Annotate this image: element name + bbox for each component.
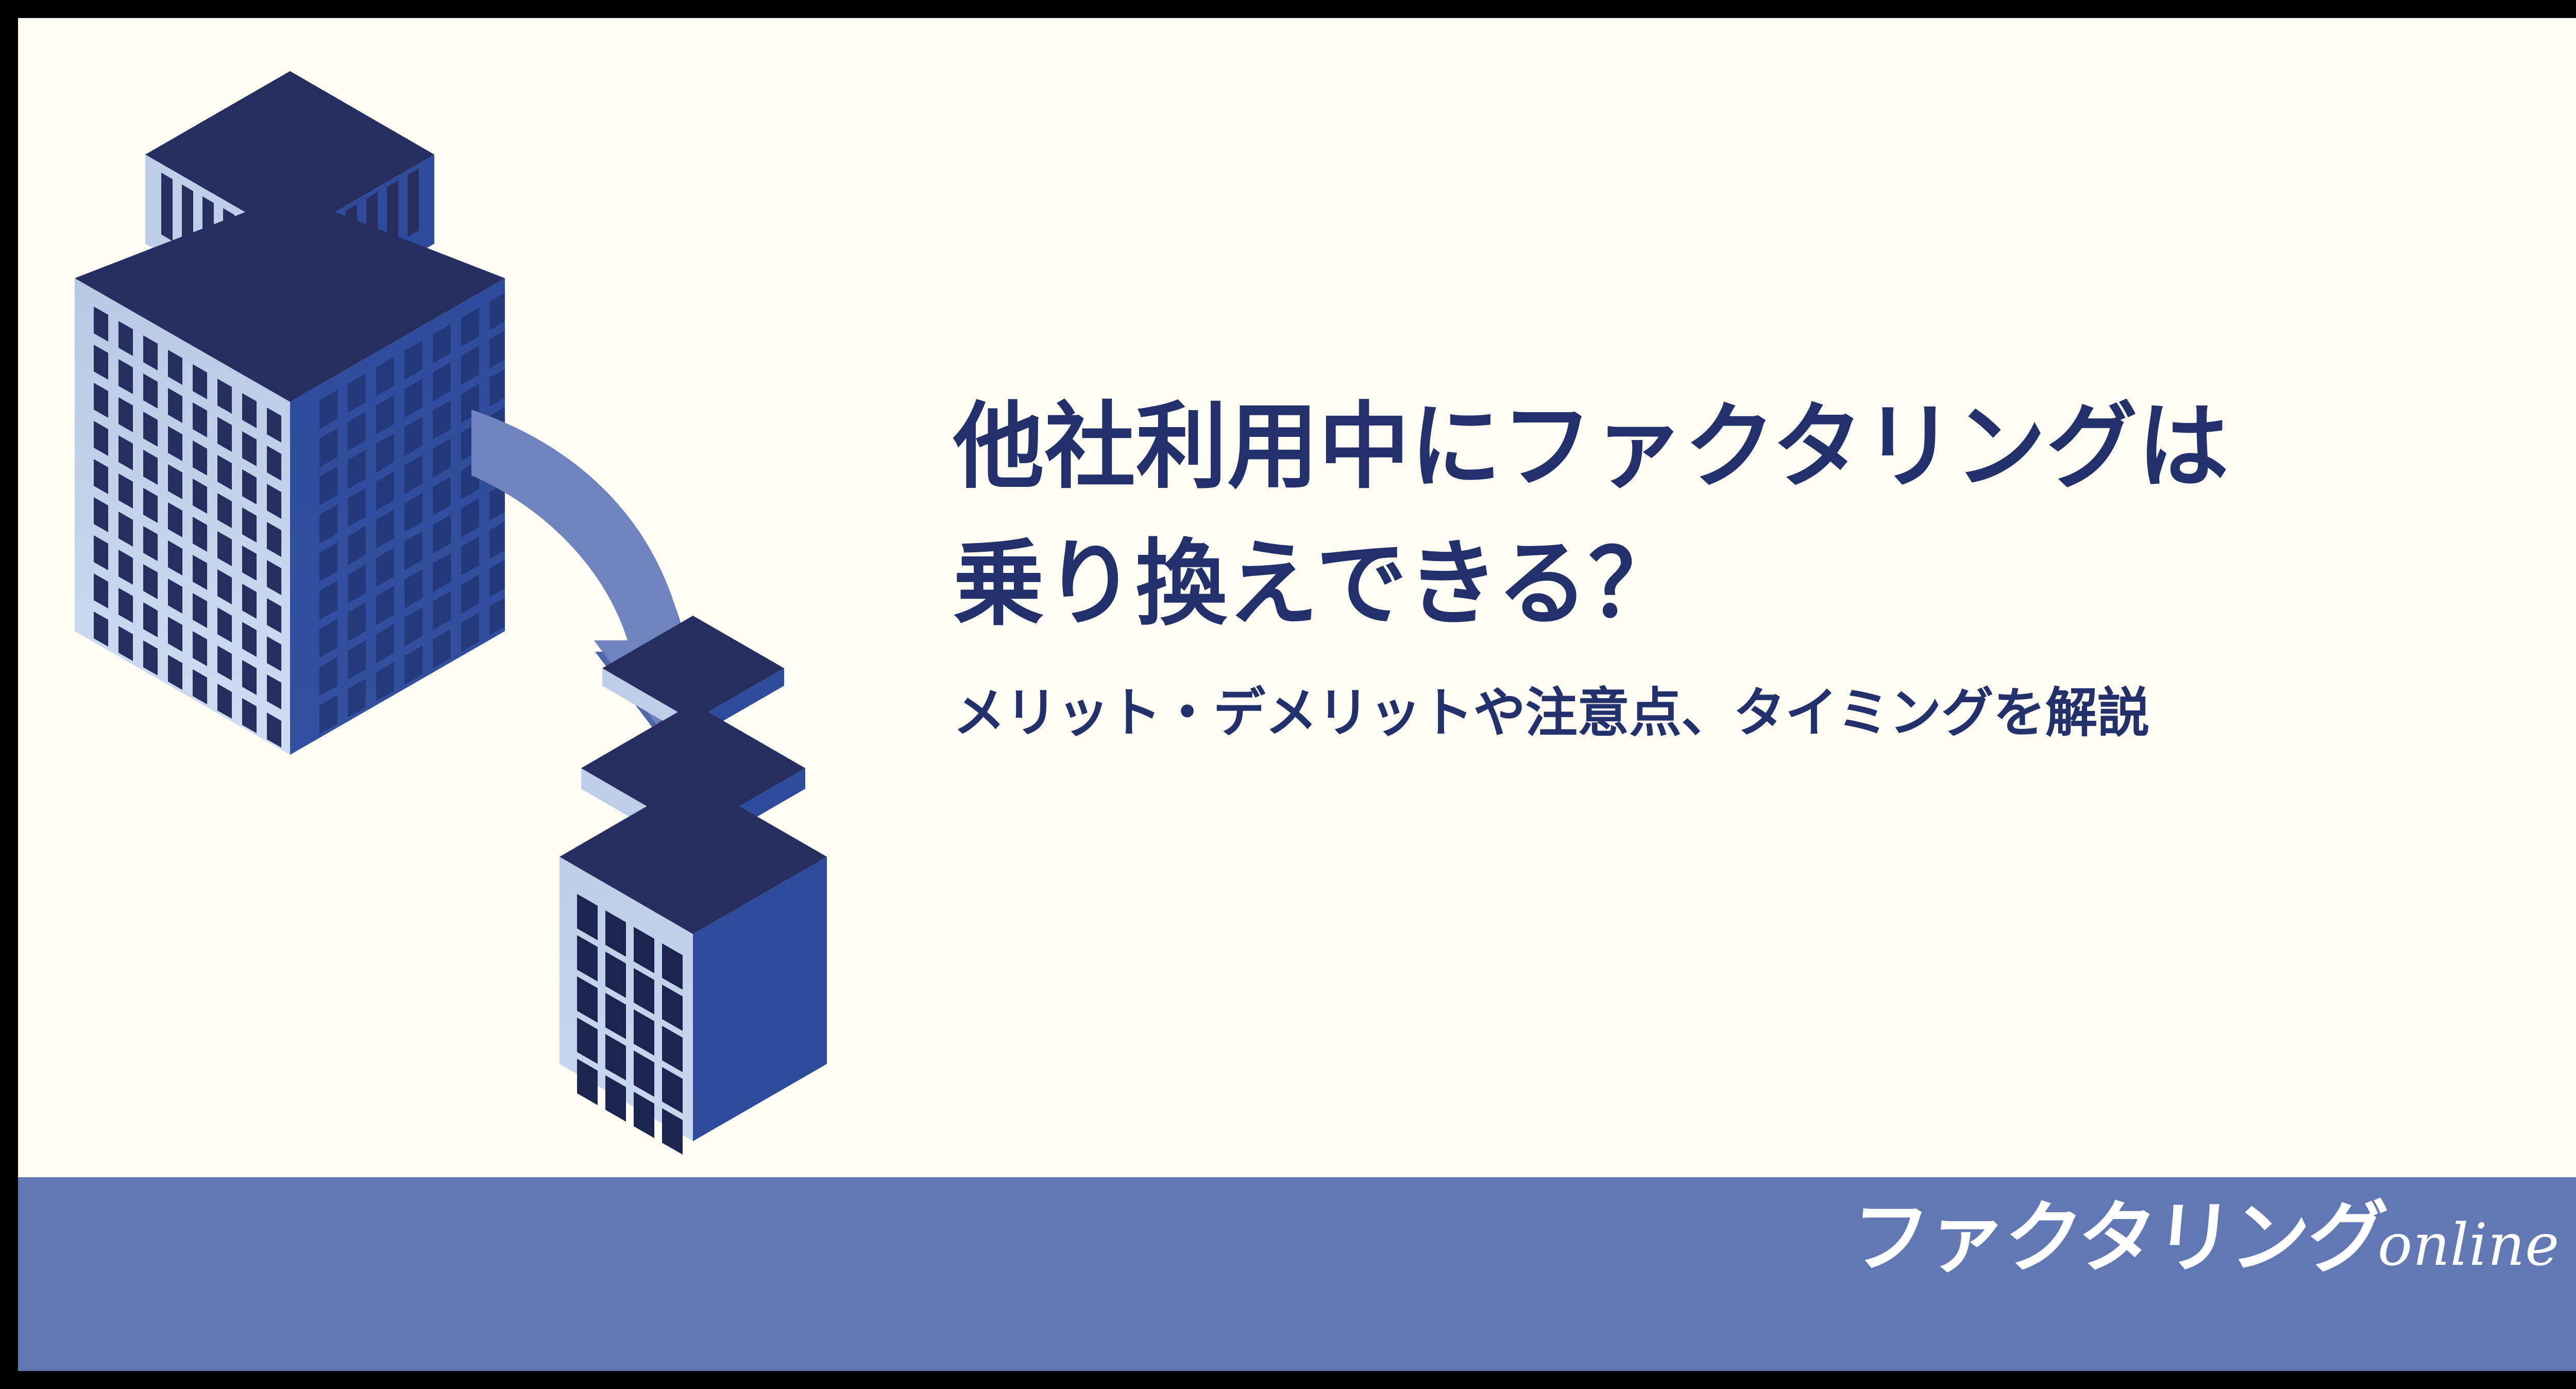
site-logo-jp: ファクタリング: [1848, 1199, 2388, 1277]
site-logo: ファクタリング online: [1851, 1199, 2560, 1277]
hero-illustration: [18, 18, 971, 1177]
headline-line-1: 他社利用中にファクタリングは: [953, 379, 2532, 516]
site-logo-en: online: [2378, 1216, 2560, 1274]
footer-band: ファクタリング online: [18, 1177, 2576, 1371]
headline-block: 他社利用中にファクタリングは 乗り換えできる？ メリット・デメリットや注意点、タ…: [953, 379, 2576, 745]
subheadline: メリット・デメリットや注意点、タイミングを解説: [953, 681, 2557, 745]
banner-canvas: 他社利用中にファクタリングは 乗り換えできる？ メリット・デメリットや注意点、タ…: [18, 18, 2576, 1371]
headline-line-2: 乗り換えできる？: [953, 516, 2532, 653]
large-building: [75, 71, 507, 755]
small-building: [560, 616, 827, 1155]
